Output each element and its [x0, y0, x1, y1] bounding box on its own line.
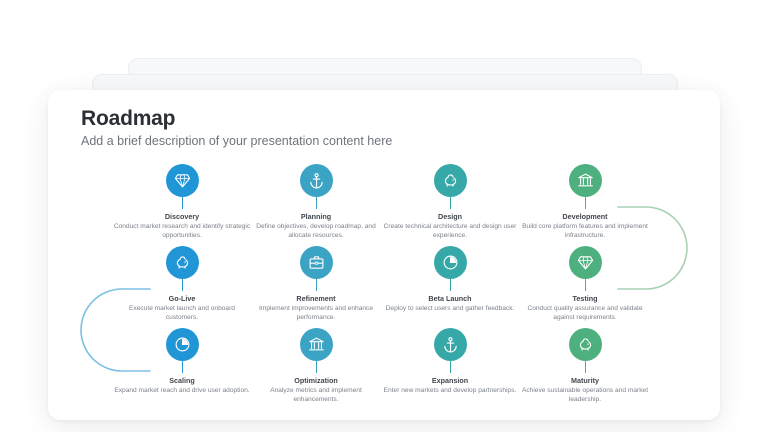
milestone-stem	[585, 279, 586, 291]
diamond-icon	[174, 172, 191, 189]
milestone-description: Define objectives, develop roadmap, and …	[241, 222, 391, 241]
diamond-icon	[577, 254, 594, 271]
milestone-description: Build core platform features and impleme…	[510, 222, 660, 241]
piggy-bank-icon	[577, 336, 594, 353]
pie-chart-icon	[174, 336, 191, 353]
milestone-title: Beta Launch	[375, 294, 525, 303]
milestone-beta-launch[interactable]: Beta Launch Deploy to select users and g…	[375, 246, 525, 313]
milestone-title: Expansion	[375, 376, 525, 385]
milestone-icon-bubble[interactable]	[166, 164, 199, 197]
milestone-stem	[585, 197, 586, 209]
milestone-refinement[interactable]: Refinement Implement improvements and en…	[241, 246, 391, 323]
milestone-icon-bubble[interactable]	[569, 164, 602, 197]
milestone-testing[interactable]: Testing Conduct quality assurance and va…	[510, 246, 660, 323]
milestone-icon-bubble[interactable]	[300, 246, 333, 279]
milestone-stem	[450, 197, 451, 209]
milestone-description: Achieve sustainable operations and marke…	[510, 386, 660, 405]
milestone-stem	[182, 361, 183, 373]
milestone-icon-bubble[interactable]	[434, 328, 467, 361]
milestone-title: Planning	[241, 212, 391, 221]
milestone-optimization[interactable]: Optimization Analyze metrics and impleme…	[241, 328, 391, 405]
milestone-title: Design	[375, 212, 525, 221]
bank-icon	[577, 172, 594, 189]
milestone-title: Discovery	[107, 212, 257, 221]
milestone-description: Execute market launch and onboard custom…	[107, 304, 257, 323]
milestone-stem	[450, 361, 451, 373]
milestone-icon-bubble[interactable]	[166, 328, 199, 361]
milestone-icon-bubble[interactable]	[434, 164, 467, 197]
milestone-stem	[316, 279, 317, 291]
milestone-description: Conduct market research and identify str…	[107, 222, 257, 241]
pie-chart-icon	[442, 254, 459, 271]
milestone-title: Refinement	[241, 294, 391, 303]
roadmap-slide: Roadmap Add a brief description of your …	[48, 90, 720, 420]
milestone-icon-bubble[interactable]	[569, 246, 602, 279]
milestone-design[interactable]: Design Create technical architecture and…	[375, 164, 525, 241]
milestone-description: Deploy to select users and gather feedba…	[375, 304, 525, 313]
milestone-expansion[interactable]: Expansion Enter new markets and develop …	[375, 328, 525, 395]
milestone-discovery[interactable]: Discovery Conduct market research and id…	[107, 164, 257, 241]
briefcase-icon	[308, 254, 325, 271]
anchor-icon	[308, 172, 325, 189]
milestone-title: Testing	[510, 294, 660, 303]
milestone-stem	[316, 361, 317, 373]
milestone-development[interactable]: Development Build core platform features…	[510, 164, 660, 241]
milestone-stem	[182, 279, 183, 291]
anchor-icon	[442, 336, 459, 353]
milestone-go-live[interactable]: Go-Live Execute market launch and onboar…	[107, 246, 257, 323]
milestone-title: Scaling	[107, 376, 257, 385]
milestone-description: Conduct quality assurance and validate a…	[510, 304, 660, 323]
milestone-icon-bubble[interactable]	[300, 164, 333, 197]
bank-icon	[308, 336, 325, 353]
milestone-description: Expand market reach and drive user adopt…	[107, 386, 257, 395]
milestone-title: Development	[510, 212, 660, 221]
milestone-stem	[182, 197, 183, 209]
milestone-stem	[316, 197, 317, 209]
milestone-stem	[585, 361, 586, 373]
milestone-description: Implement improvements and enhance perfo…	[241, 304, 391, 323]
milestone-planning[interactable]: Planning Define objectives, develop road…	[241, 164, 391, 241]
milestone-icon-bubble[interactable]	[300, 328, 333, 361]
milestone-description: Create technical architecture and design…	[375, 222, 525, 241]
milestone-description: Analyze metrics and implement enhancemen…	[241, 386, 391, 405]
milestone-icon-bubble[interactable]	[166, 246, 199, 279]
milestone-title: Optimization	[241, 376, 391, 385]
piggy-bank-icon	[174, 254, 191, 271]
milestone-maturity[interactable]: Maturity Achieve sustainable operations …	[510, 328, 660, 405]
milestone-title: Maturity	[510, 376, 660, 385]
piggy-bank-icon	[442, 172, 459, 189]
milestone-stem	[450, 279, 451, 291]
milestone-title: Go-Live	[107, 294, 257, 303]
milestone-scaling[interactable]: Scaling Expand market reach and drive us…	[107, 328, 257, 395]
milestone-icon-bubble[interactable]	[434, 246, 467, 279]
milestone-description: Enter new markets and develop partnershi…	[375, 386, 525, 395]
milestone-icon-bubble[interactable]	[569, 328, 602, 361]
roadmap-timeline: Discovery Conduct market research and id…	[48, 90, 720, 420]
